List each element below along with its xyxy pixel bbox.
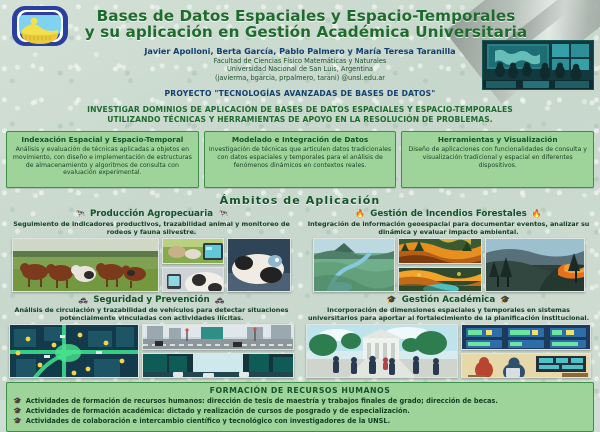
domain-title: Gestión de Incendios Forestales (370, 209, 527, 219)
poster-canvas: Bases de Datos Espaciales y Espacio-Temp… (0, 0, 600, 400)
domain-image-strip (6, 238, 297, 292)
cow-sensor-photo (162, 267, 224, 293)
domain-title: Seguridad y Prevención (93, 295, 209, 305)
domain-heading: 🚓 Seguridad y Prevención 🚓 (6, 295, 297, 305)
dairy-cow-photo (227, 238, 291, 292)
police-car-icon: 🚓 (215, 296, 225, 304)
domain-gestion-academica: 🎓 Gestión Académica 🎓 Incorporación de d… (303, 294, 594, 378)
domain-image-strip (303, 324, 594, 378)
graduation-cap-bullet-icon: 🎓 (13, 417, 22, 426)
objective-line-1: INVESTIGAR DOMINIOS DE APLICACIÓN DE BAS… (87, 105, 513, 114)
avenue-traffic-photo (142, 353, 294, 379)
fire-lake-photo (398, 267, 482, 293)
graduation-cap-icon: 🎓 (500, 296, 510, 304)
domain-heading: 🎓 Gestión Académica 🎓 (303, 295, 594, 305)
application-domains-grid: 🐄 Producción Agropecuaria 🐄 Seguimiento … (0, 208, 600, 378)
cattle-tablet-photo (162, 238, 224, 264)
footer-item-text: Actividades de formación de recursos hum… (26, 397, 498, 405)
cattle-herd-field-photo (12, 238, 159, 292)
affiliation-emails: (javierma, bgarcia, prpalmero, tarani) @… (215, 74, 385, 82)
domain-heading: 🔥 Gestión de Incendios Forestales 🔥 (303, 209, 594, 219)
cow-icon: 🐄 (75, 210, 85, 218)
domain-gestion-incendios: 🔥 Gestión de Incendios Forestales 🔥 Inte… (303, 208, 594, 292)
domain-text: Incorporación de dimensiones espaciales … (305, 306, 592, 322)
footer-item-text: Actividades de formación académica: dict… (26, 407, 410, 415)
cow-icon: 🐄 (218, 210, 228, 218)
street-intersection-photo (142, 324, 294, 350)
card-title: Indexación Espacial y Espacio-Temporal (11, 135, 194, 144)
graduation-cap-bullet-icon: 🎓 (13, 397, 22, 406)
research-card-herramientas: Herramientas y Visualización Diseño de a… (401, 131, 594, 188)
campus-students-photo (306, 324, 458, 378)
card-text: Investigación de técnicas que articulen … (209, 146, 392, 169)
title-line-1: Bases de Datos Espaciales y Espacio-Temp… (97, 7, 516, 25)
affiliation-university: Universidad Nacional de San Luis, Argent… (227, 65, 373, 73)
section-title-ambitos: Ámbitos de Aplicación (0, 194, 600, 207)
domain-heading: 🐄 Producción Agropecuaria 🐄 (6, 209, 297, 219)
list-item: 🎓 Actividades de formación académica: di… (13, 407, 587, 416)
footer-item-text: Actividades de colaboración e intercambi… (26, 417, 390, 425)
research-lines-row: Indexación Espacial y Espacio-Temporal A… (0, 126, 600, 188)
card-text: Análisis y evaluación de técnicas aplica… (11, 146, 194, 177)
fire-icon: 🔥 (355, 210, 365, 218)
list-item: 🎓 Actividades de colaboración e intercam… (13, 417, 587, 426)
domain-image-strip (303, 238, 594, 292)
domain-text: Análisis de circulación y trazabilidad d… (8, 306, 295, 322)
poster-header: Bases de Datos Espaciales y Espacio-Temp… (0, 0, 600, 126)
control-room-photo (482, 40, 594, 90)
objective-statement: INVESTIGAR DOMINIOS DE APLICACIÓN DE BAS… (6, 105, 594, 124)
project-name: PROYECTO "TECNOLOGÍAS AVANZADAS DE BASES… (0, 89, 600, 98)
card-title: Modelado e Integración de Datos (209, 135, 392, 144)
domain-seguridad-prevencion: 🚓 Seguridad y Prevención 🚓 Análisis de c… (6, 294, 297, 378)
police-car-icon: 🚓 (78, 296, 88, 304)
card-title: Herramientas y Visualización (406, 135, 589, 144)
page-title: Bases de Datos Espaciales y Espacio-Temp… (76, 8, 536, 41)
unsl-shield-logo (10, 5, 70, 47)
green-valley-river-photo (313, 238, 395, 292)
affiliation-faculty: Facultad de Ciencias Físico Matemáticas … (214, 57, 387, 65)
list-item: 🎓 Actividades de formación de recursos h… (13, 397, 587, 406)
title-line-2: y su aplicación en Gestión Académica Uni… (85, 23, 528, 41)
domain-text: Integración de información geoespacial p… (305, 220, 592, 236)
objective-line-2: UTILIZANDO TÉCNICAS Y HERRAMIENTAS DE AP… (107, 115, 493, 124)
formacion-recursos-humanos-panel: FORMACIÓN DE RECURSOS HUMANOS 🎓 Activida… (6, 382, 594, 432)
card-text: Diseño de aplicaciones con funcionalidad… (406, 146, 589, 169)
domain-image-strip (6, 324, 297, 378)
domain-title: Producción Agropecuaria (90, 209, 213, 219)
city-traffic-map-photo (9, 324, 139, 378)
domain-produccion-agropecuaria: 🐄 Producción Agropecuaria 🐄 Seguimiento … (6, 208, 297, 292)
graduation-cap-icon: 🎓 (387, 296, 397, 304)
dashboard-screens-photo (461, 324, 591, 350)
fire-icon: 🔥 (532, 210, 542, 218)
domain-text: Seguimiento de indicadores productivos, … (8, 220, 295, 236)
footer-title: FORMACIÓN DE RECURSOS HUMANOS (13, 386, 587, 395)
burning-hillside-photo (398, 238, 482, 264)
research-card-indexacion: Indexación Espacial y Espacio-Temporal A… (6, 131, 199, 188)
domain-title: Gestión Académica (402, 295, 495, 305)
classroom-students-photo (461, 353, 591, 379)
graduation-cap-bullet-icon: 🎓 (13, 407, 22, 416)
research-card-modelado: Modelado e Integración de Datos Investig… (204, 131, 397, 188)
forest-fire-slope-photo (485, 238, 585, 292)
